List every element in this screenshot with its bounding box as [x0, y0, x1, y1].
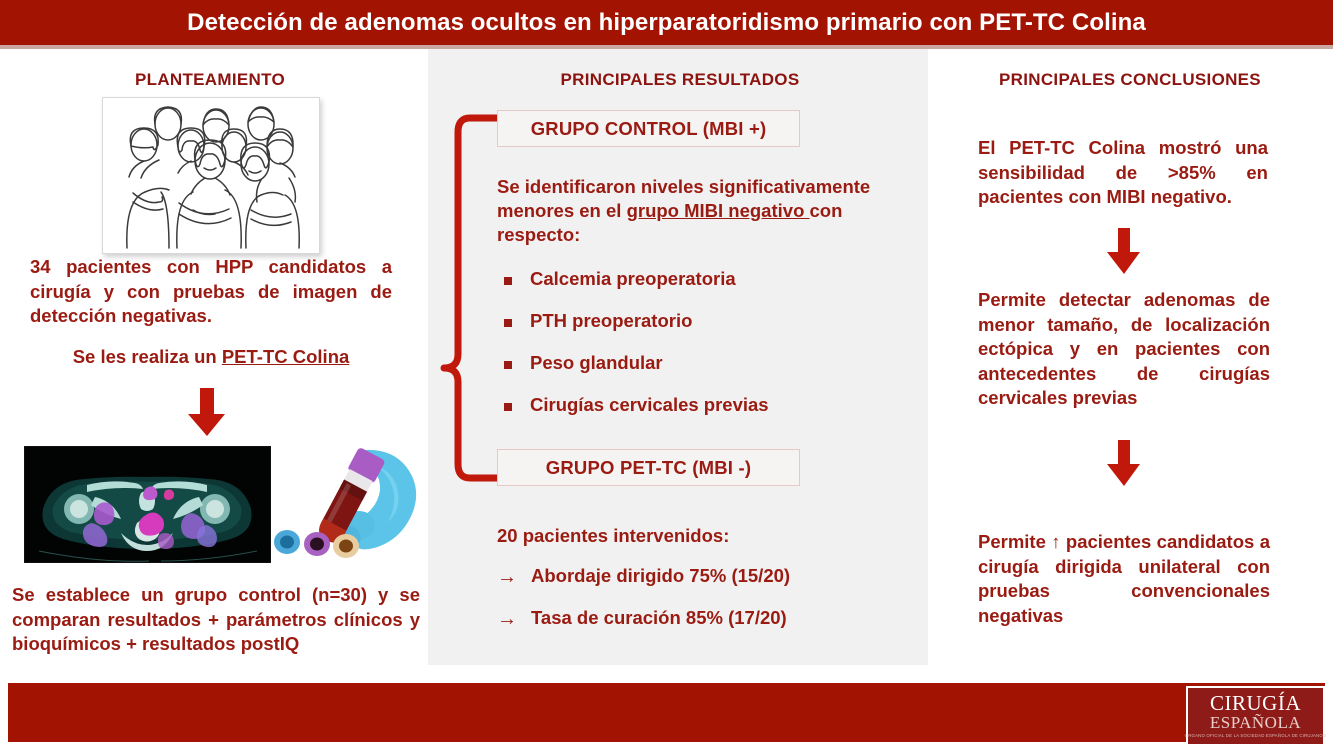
conclusion-3-part1: Permite [978, 531, 1051, 552]
list-item-label: Calcemia preoperatoria [530, 268, 736, 290]
logo-subtitle: ÓRGANO OFICIAL DE LA SOCIEDAD ESPAÑOLA D… [1185, 734, 1326, 739]
square-bullet-icon [504, 361, 512, 369]
square-bullet-icon [504, 319, 512, 327]
people-illustration [102, 97, 320, 254]
square-bullet-icon [504, 403, 512, 411]
result-row-label: Abordaje dirigido 75% (15/20) [531, 565, 790, 587]
result-row: → Tasa de curación 85% (17/20) [497, 607, 887, 629]
conclusion-3: Permite ↑ pacientes candidatos a cirugía… [978, 530, 1270, 628]
square-bullet-icon [504, 277, 512, 285]
arrow-right-icon: → [497, 567, 517, 587]
list-item: Cirugías cervicales previas [504, 394, 894, 416]
left-paragraph-pettc-prefix: Se les realiza un [73, 346, 222, 367]
left-paragraph-control-group: Se establece un grupo control (n=30) y s… [12, 583, 420, 657]
result-row: → Abordaje dirigido 75% (15/20) [497, 565, 887, 587]
label-box-grupo-control: GRUPO CONTROL (MBI +) [497, 110, 800, 147]
logo-title-line1: CIRUGÍA [1210, 693, 1301, 714]
section-heading-resultados: PRINCIPALES RESULTADOS [470, 70, 890, 90]
arrow-down-icon [186, 388, 228, 441]
left-paragraph-pettc: Se les realiza un PET-TC Colina [30, 345, 392, 370]
list-item-label: Peso glandular [530, 352, 663, 374]
list-item: Calcemia preoperatoria [504, 268, 894, 290]
list-item-label: PTH preoperatorio [530, 310, 692, 332]
conclusion-2: Permite detectar adenomas de menor tamañ… [978, 288, 1270, 411]
journal-logo: CIRUGÍA ESPAÑOLA ÓRGANO OFICIAL DE LA SO… [1186, 686, 1325, 746]
left-paragraph-pettc-link: PET-TC Colina [222, 346, 349, 367]
result-row-label: Tasa de curación 85% (17/20) [531, 607, 787, 629]
blood-tubes-image [272, 442, 420, 564]
logo-title-line2: ESPAÑOLA [1210, 714, 1301, 733]
curly-brace-decoration [436, 112, 506, 489]
section-heading-planteamiento: PLANTEAMIENTO [60, 70, 360, 90]
middle-intro-underlined: grupo MIBI negativo [627, 200, 810, 221]
conclusion-1: El PET-TC Colina mostró una sensibilidad… [978, 136, 1268, 210]
list-item: PTH preoperatorio [504, 310, 894, 332]
left-paragraph-patients: 34 pacientes con HPP candidatos a cirugí… [30, 255, 392, 329]
arrow-up-icon: ↑ [1051, 531, 1060, 552]
middle-results-title: 20 pacientes intervenidos: [497, 524, 857, 549]
middle-intro-text: Se identificaron niveles significativame… [497, 175, 875, 247]
list-item-label: Cirugías cervicales previas [530, 394, 769, 416]
header-bar: Detección de adenomas ocultos en hiperpa… [0, 0, 1333, 45]
footer-bar [8, 683, 1325, 742]
arrow-down-icon [1105, 228, 1143, 279]
section-heading-conclusiones: PRINCIPALES CONCLUSIONES [955, 70, 1305, 90]
pet-ct-image [24, 446, 271, 563]
label-box-grupo-pettc: GRUPO PET-TC (MBI -) [497, 449, 800, 486]
list-item: Peso glandular [504, 352, 894, 374]
page-title: Detección de adenomas ocultos en hiperpa… [187, 9, 1146, 37]
arrow-right-icon: → [497, 609, 517, 629]
poster-canvas: Detección de adenomas ocultos en hiperpa… [0, 0, 1333, 750]
arrow-down-icon [1105, 440, 1143, 491]
